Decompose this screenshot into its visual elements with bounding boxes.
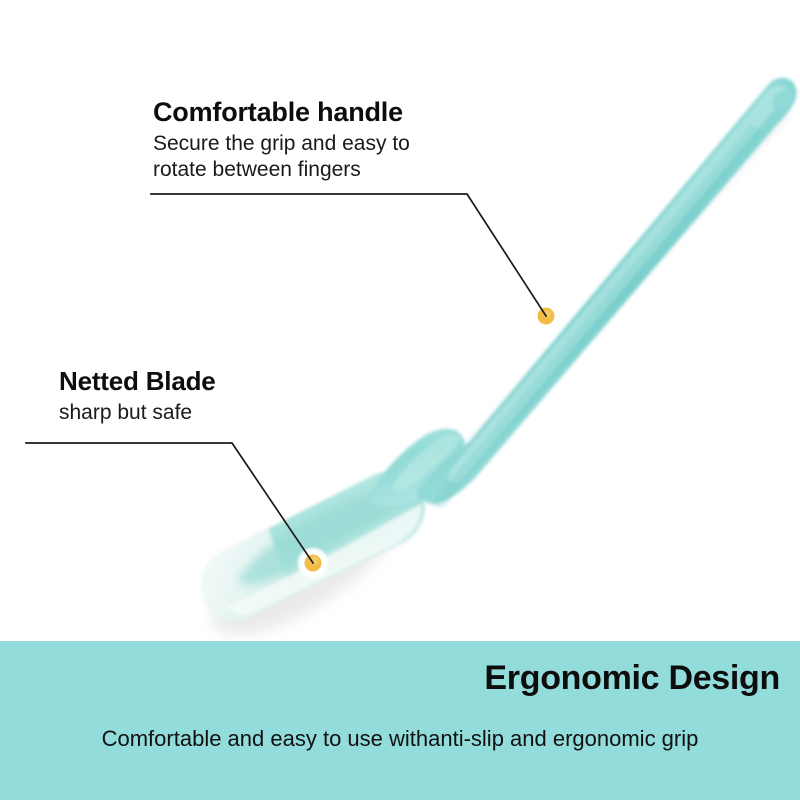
- callout-comfortable-handle: Comfortable handle Secure the grip and e…: [151, 96, 491, 183]
- callout-blade-subtitle-line1: sharp but safe: [59, 400, 326, 426]
- banner-subtitle: Comfortable and easy to use withanti-sli…: [0, 726, 800, 752]
- bottom-banner: Ergonomic Design Comfortable and easy to…: [0, 641, 800, 800]
- callout-handle-title: Comfortable handle: [153, 96, 491, 128]
- banner-title: Ergonomic Design: [484, 659, 780, 698]
- marker-dot-blade: [296, 546, 330, 580]
- marker-dot-handle: [529, 299, 563, 333]
- callout-netted-blade: Netted Blade sharp but safe: [26, 366, 326, 426]
- callout-blade-title: Netted Blade: [59, 366, 326, 397]
- callout-handle-subtitle-line1: Secure the grip and easy to: [153, 131, 491, 157]
- callout-handle-subtitle-line2: rotate between fingers: [153, 157, 491, 183]
- infographic-page: Comfortable handle Secure the grip and e…: [0, 0, 800, 800]
